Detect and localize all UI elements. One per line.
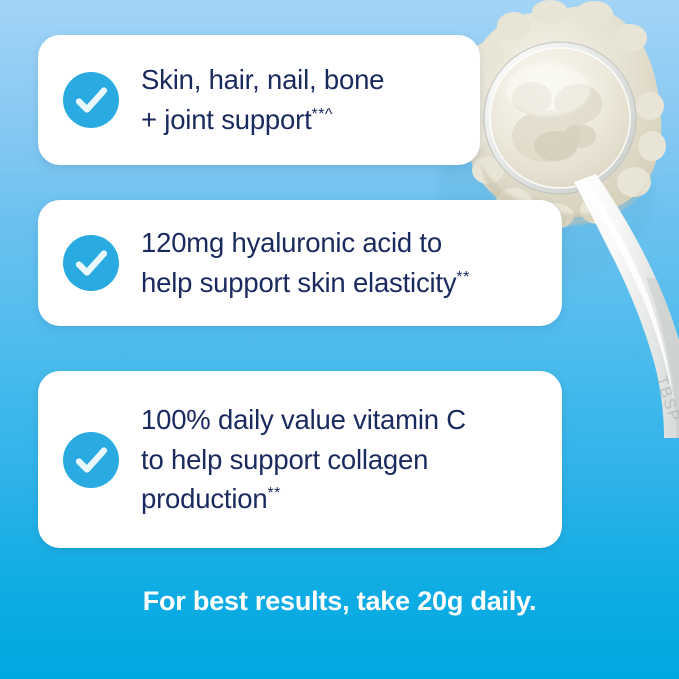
benefit-1-footnote: **^	[312, 106, 333, 123]
product-benefits-graphic: TBSP Skin, hair, nail, bone + joint supp…	[0, 0, 679, 679]
benefit-2-footnote: **	[456, 269, 469, 286]
check-circle-icon	[63, 235, 119, 291]
benefit-3-line-3: production**	[141, 479, 466, 519]
check-circle-icon	[63, 432, 119, 488]
benefit-3-line-2: to help support collagen	[141, 440, 466, 480]
benefit-card-1-text: Skin, hair, nail, bone + joint support**…	[141, 60, 384, 140]
benefit-3-line-1: 100% daily value vitamin C	[141, 400, 466, 440]
scoop-handle-label: TBSP	[652, 374, 679, 425]
footer-dosage-text: For best results, take 20g daily.	[0, 586, 679, 617]
benefit-card-2-text: 120mg hyaluronic acid to help support sk…	[141, 223, 470, 303]
benefit-card-1: Skin, hair, nail, bone + joint support**…	[38, 35, 480, 165]
benefit-3-footnote: **	[267, 485, 280, 502]
benefit-1-line-1: Skin, hair, nail, bone	[141, 60, 384, 100]
benefit-2-line-2: help support skin elasticity**	[141, 263, 470, 303]
benefit-2-line-1: 120mg hyaluronic acid to	[141, 223, 470, 263]
benefit-card-2: 120mg hyaluronic acid to help support sk…	[38, 200, 562, 326]
benefit-card-3: 100% daily value vitamin C to help suppo…	[38, 371, 562, 548]
benefit-card-3-text: 100% daily value vitamin C to help suppo…	[141, 400, 466, 520]
check-circle-icon	[63, 72, 119, 128]
benefit-1-line-2: + joint support**^	[141, 100, 384, 140]
